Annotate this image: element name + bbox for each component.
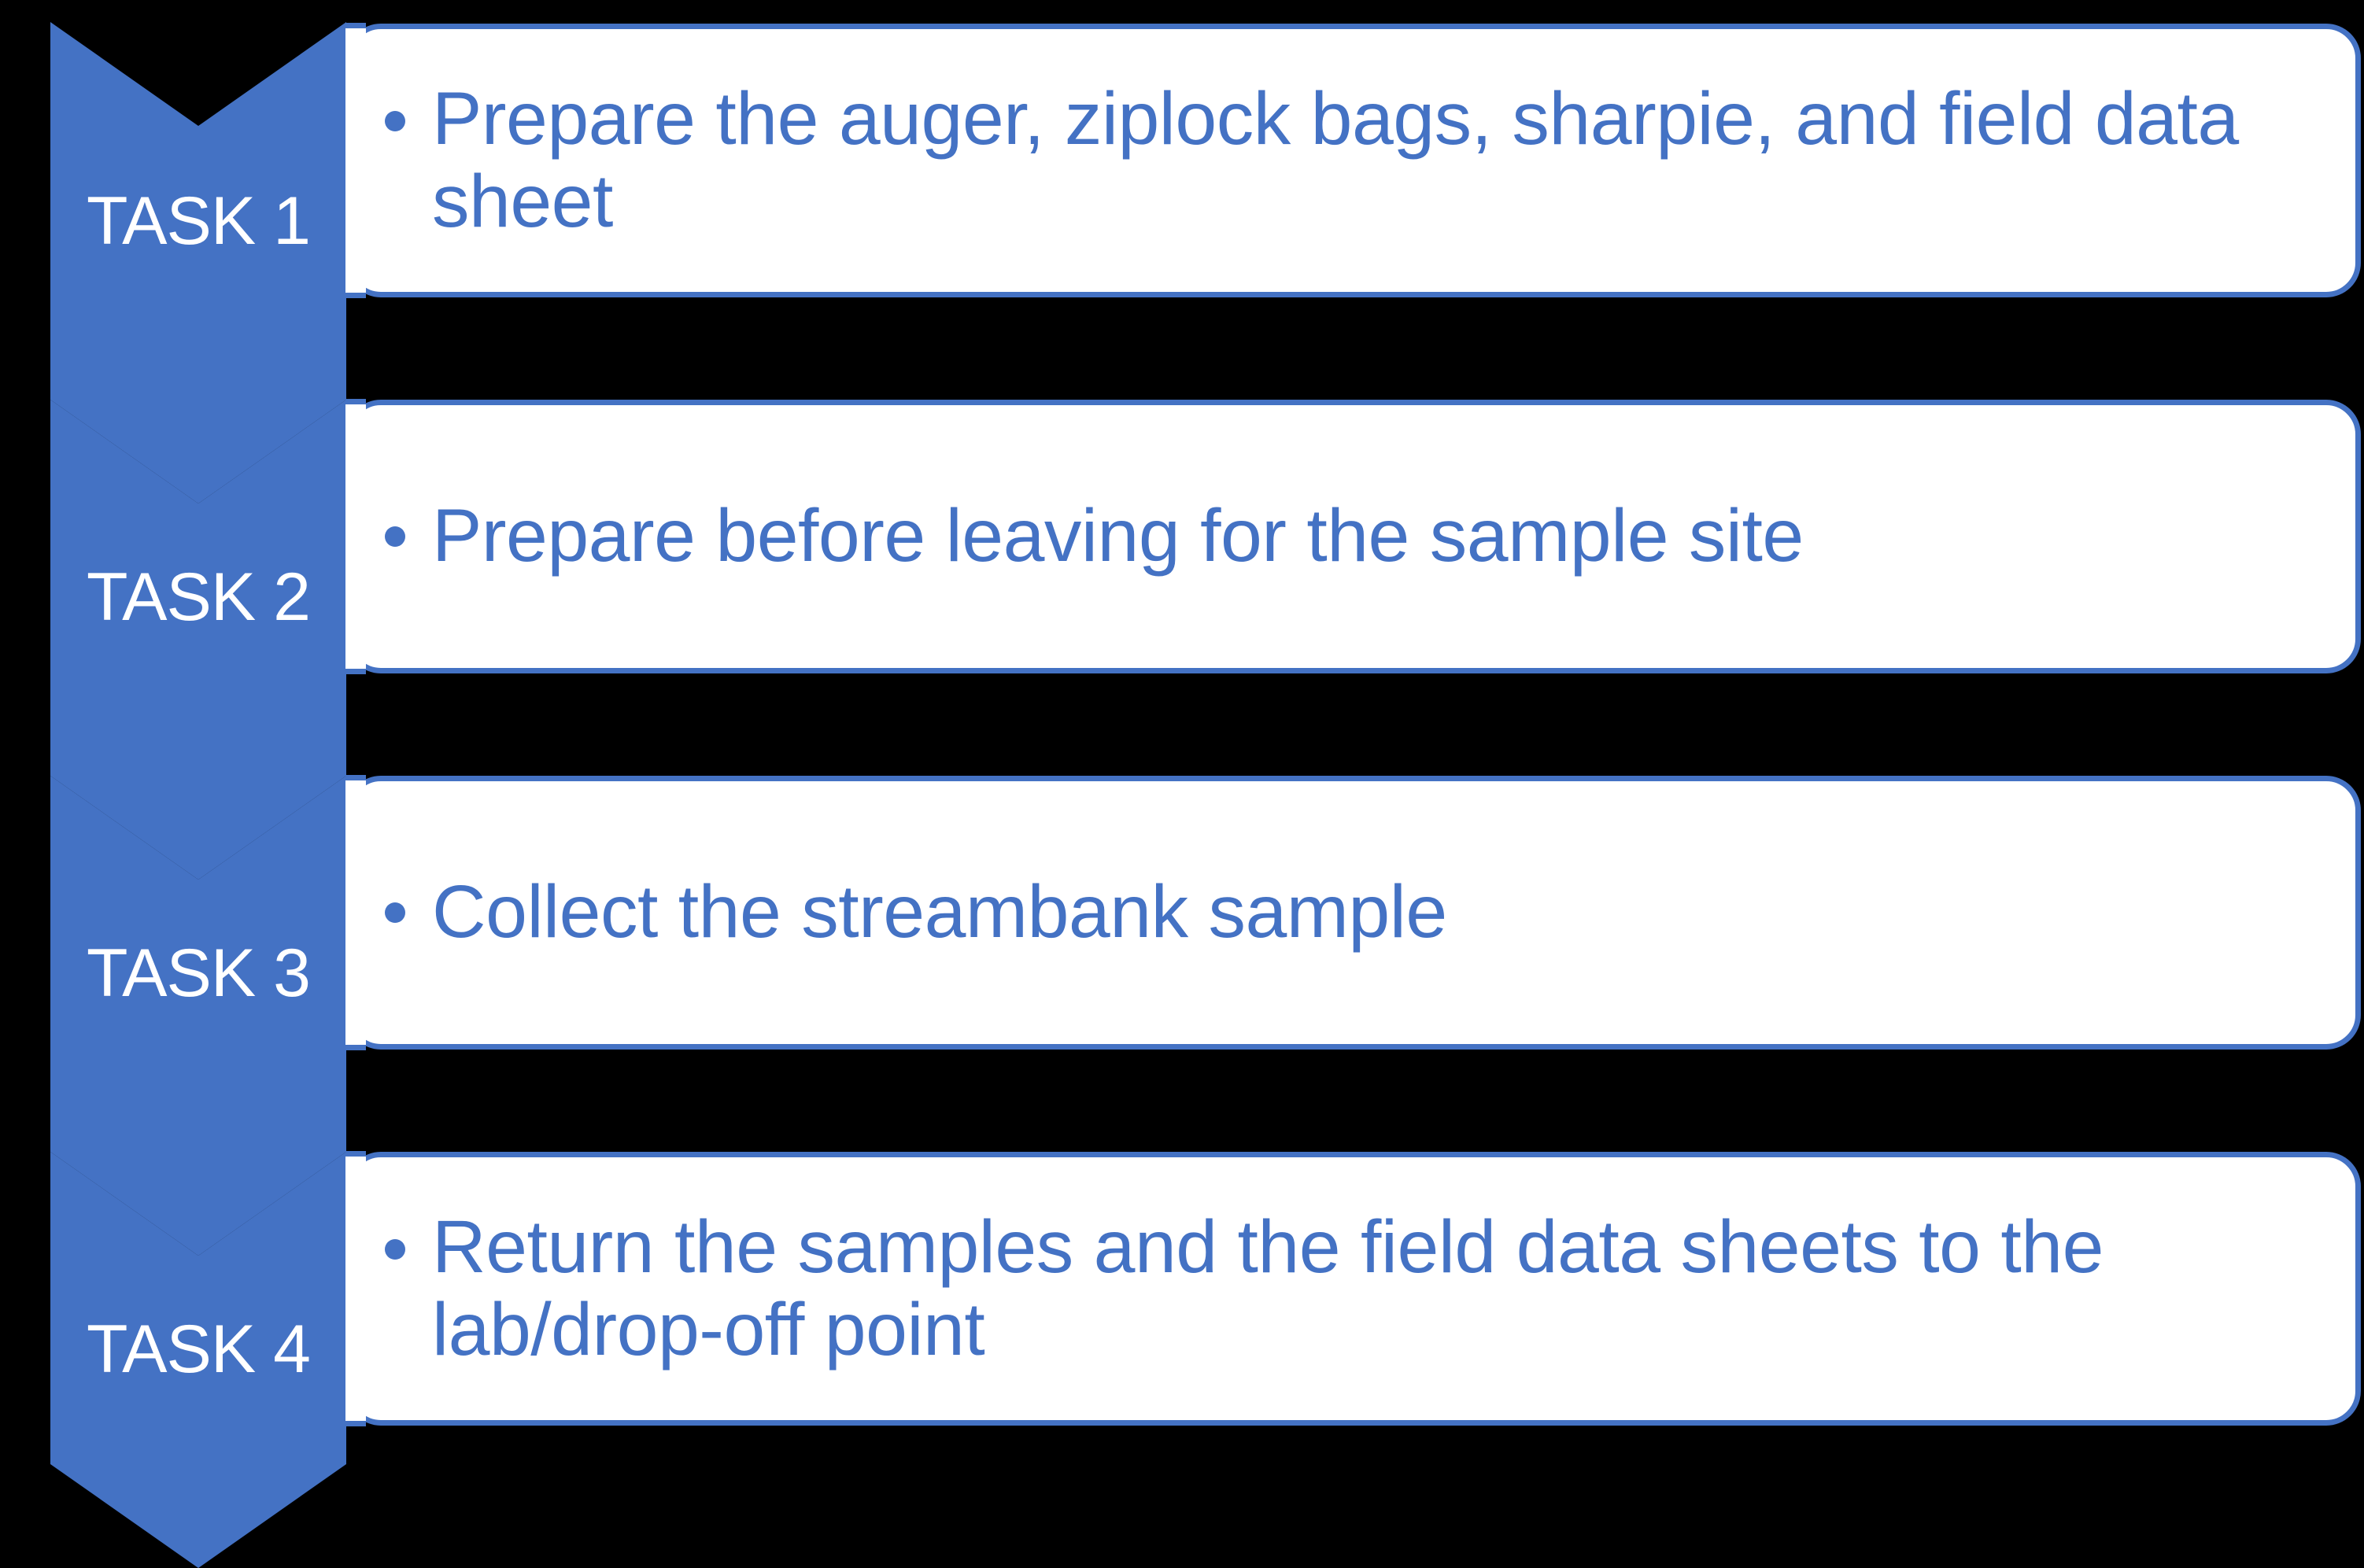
bullet-list-4: Return the samples and the field data sh… [352,1206,2355,1372]
step-label-2: TASK 2 [50,400,346,673]
bullet-dot-icon [385,1239,405,1260]
process-step-3[interactable]: TASK 3 Collect the streambank sample [0,776,2364,1050]
step-label-1: TASK 1 [50,24,346,297]
bullet-dot-icon [385,526,405,547]
process-step-1[interactable]: TASK 1 Prepare the auger, ziplock bags, … [0,24,2364,297]
bullet-list-2: Prepare before leaving for the sample si… [352,495,2355,577]
step-bullet-text-1: Prepare the auger, ziplock bags, sharpie… [432,78,2308,244]
step-bullet-text-2: Prepare before leaving for the sample si… [432,495,2308,577]
diagram-canvas: TASK 1 Prepare the auger, ziplock bags, … [0,0,2364,1568]
bullet-dot-icon [385,902,405,923]
step-label-4: TASK 4 [50,1152,346,1426]
step-label-3: TASK 3 [50,776,346,1050]
step-content-box-4[interactable]: Return the samples and the field data sh… [346,1152,2361,1426]
step-content-box-1[interactable]: Prepare the auger, ziplock bags, sharpie… [346,24,2361,297]
step-content-box-2[interactable]: Prepare before leaving for the sample si… [346,400,2361,673]
process-step-4[interactable]: TASK 4 Return the samples and the field … [0,1152,2364,1426]
bullet-dot-icon [385,111,405,131]
bullet-list-1: Prepare the auger, ziplock bags, sharpie… [352,78,2355,244]
step-content-box-3[interactable]: Collect the streambank sample [346,776,2361,1050]
process-step-2[interactable]: TASK 2 Prepare before leaving for the sa… [0,400,2364,673]
step-bullet-text-4: Return the samples and the field data sh… [432,1206,2308,1372]
step-bullet-text-3: Collect the streambank sample [432,871,2308,954]
bullet-list-3: Collect the streambank sample [352,871,2355,954]
